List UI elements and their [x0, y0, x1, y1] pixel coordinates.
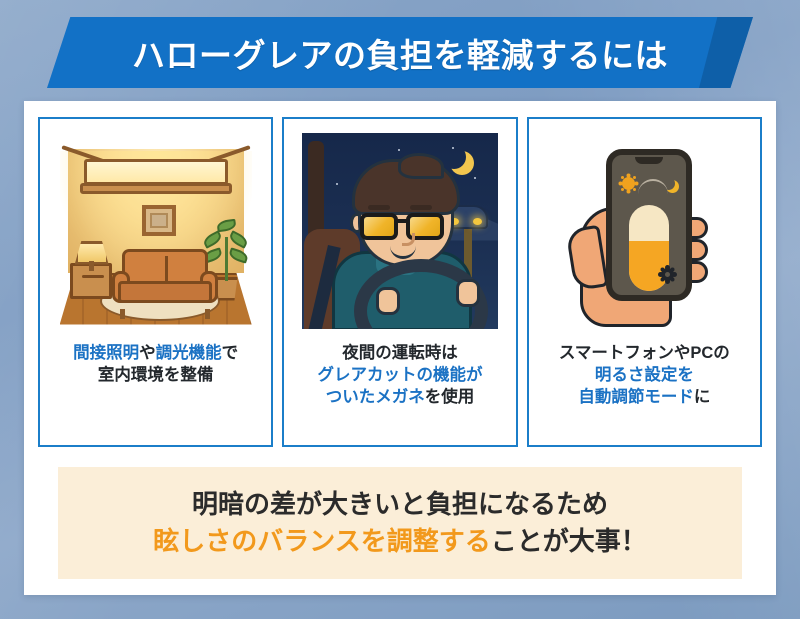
caption-line: 夜間の運転時は: [317, 342, 482, 364]
caption-segment: 調光機能: [156, 344, 222, 362]
indirect-lighting-room-illustration: [54, 133, 258, 329]
caption-segment: 間接照明: [73, 344, 139, 362]
card-caption: 間接照明や調光機能で 室内環境を整備: [73, 342, 238, 386]
caption-segment: に: [694, 388, 711, 406]
driver-hair-tuft: [398, 153, 444, 179]
sofa-leg-left: [120, 309, 125, 319]
conclusion-box: 明暗の差が大きいと負担になるため 眩しさのバランスを調整することが大事！: [58, 467, 742, 579]
card-device-brightness: スマートフォンやPCの 明るさ設定を 自動調節モードに: [527, 117, 762, 447]
caption-line: 自動調節モードに: [559, 386, 730, 408]
gear-icon[interactable]: [661, 268, 674, 281]
caption-segment: を使用: [425, 388, 475, 406]
caption-line: グレアカットの機能が: [317, 364, 482, 386]
table-lamp-stem: [89, 261, 94, 271]
hand-holding-smartphone-illustration: [544, 133, 744, 329]
headlight-icon: [473, 218, 482, 225]
smartphone: [606, 149, 692, 301]
driver-hand-left: [376, 287, 400, 315]
conclusion-segment: ことが大事！: [491, 526, 647, 556]
phone-notch: [635, 157, 663, 164]
star-icon: [336, 183, 339, 186]
caption-line: 間接照明や調光機能で: [73, 342, 238, 364]
conclusion-line: 眩しさのバランスを調整することが大事！: [153, 523, 647, 560]
caption-segment: で: [222, 344, 239, 362]
driver-eyebrow-right: [410, 205, 432, 210]
caption-segment: 室内環境を整備: [98, 366, 214, 384]
caption-segment: 夜間の運転時は: [342, 344, 458, 362]
star-icon: [398, 149, 401, 152]
caption-segment: スマートフォンやPCの: [559, 344, 730, 362]
caption-line: 室内環境を整備: [73, 364, 238, 386]
card-art-room: [46, 128, 265, 333]
conclusion-segment: 明暗の差が大きいと負担になるため: [192, 489, 608, 519]
sofa-icon: [112, 249, 218, 311]
caption-line: スマートフォンやPCの: [559, 342, 730, 364]
card-caption: 夜間の運転時は グレアカットの機能が ついたメガネを使用: [317, 342, 482, 408]
cove-light-icon: [84, 159, 228, 185]
sun-icon: [622, 177, 635, 190]
page-title: ハローグレアの負担を軽減するには: [0, 17, 800, 88]
conclusion-line: 明暗の差が大きいと負担になるため: [192, 486, 608, 523]
card-art-smartphone: [535, 128, 754, 333]
caption-segment: グレアカットの機能が: [317, 366, 482, 384]
caption-segment: 明るさ設定を: [595, 366, 694, 384]
content-panel: 間接照明や調光機能で 室内環境を整備: [24, 101, 776, 595]
card-caption: スマートフォンやPCの 明るさ設定を 自動調節モードに: [559, 342, 730, 408]
brightness-slider-fill: [629, 241, 669, 290]
sofa-seat: [118, 281, 212, 303]
star-icon: [474, 177, 477, 180]
card-art-night-driving: [290, 128, 509, 333]
cards-row: 間接照明や調光機能で 室内環境を整備: [38, 117, 762, 447]
wall-picture-frame-icon: [142, 205, 176, 236]
night-driving-illustration: [302, 133, 498, 329]
caption-segment: や: [139, 344, 156, 362]
card-indirect-lighting: 間接照明や調光機能で 室内環境を整備: [38, 117, 273, 447]
caption-segment: 自動調節モード: [578, 388, 694, 406]
glasses-bridge: [394, 219, 408, 223]
caption-line: 明るさ設定を: [559, 364, 730, 386]
glare-cut-glasses-lens-left-icon: [360, 213, 398, 240]
driver-hand-right: [456, 279, 480, 307]
cove-light-valance: [80, 183, 232, 194]
driver-eyebrow-left: [368, 205, 390, 210]
caption-line: ついたメガネを使用: [317, 386, 482, 408]
card-night-driving: 夜間の運転時は グレアカットの機能が ついたメガネを使用: [282, 117, 517, 447]
plant-stem: [225, 237, 228, 281]
caption-segment: ついたメガネ: [326, 388, 425, 406]
moon-icon: [662, 177, 675, 190]
conclusion-segment-highlight: 眩しさのバランスを調整する: [153, 526, 490, 556]
sofa-leg-right: [205, 309, 210, 319]
title-banner: ハローグレアの負担を軽減するには: [0, 17, 800, 91]
